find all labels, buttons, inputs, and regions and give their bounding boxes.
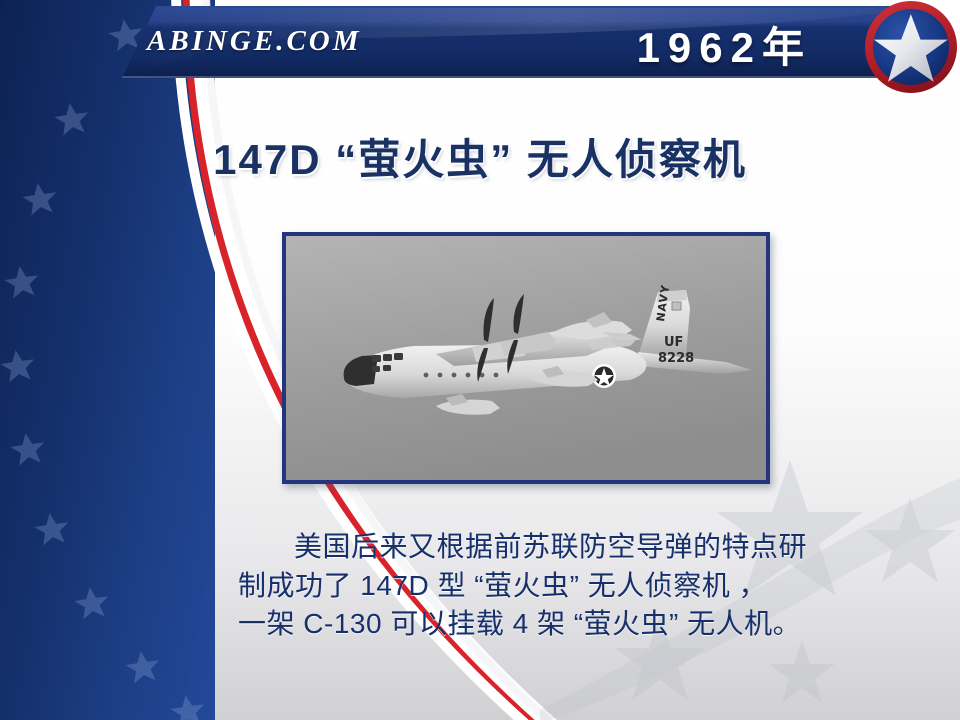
svg-text:UF: UF	[664, 335, 683, 350]
body-text: 美国后来又根据前苏联防空导弹的特点研 制成功了 147D 型 “萤火虫” 无人侦…	[238, 528, 898, 644]
svg-text:8228: 8228	[658, 351, 694, 366]
aircraft-photo-image: NAVY UF 8228	[286, 236, 766, 480]
aircraft-photo: NAVY UF 8228	[282, 232, 770, 484]
slide-root: ABINGE.COM 1962年 147D “萤火虫” 无	[0, 0, 960, 720]
body-line-3: 一架 C-130 可以挂载 4 架 “萤火虫” 无人机。	[238, 605, 898, 644]
header-banner: ABINGE.COM 1962年	[122, 6, 912, 78]
year-label: 1962年	[637, 14, 812, 75]
site-logo-text: ABINGE.COM	[147, 25, 362, 58]
star-emblem-icon	[862, 0, 960, 96]
page-title: 147D “萤火虫” 无人侦察机	[0, 126, 960, 187]
body-line-2: 制成功了 147D 型 “萤火虫” 无人侦察机 ，	[238, 567, 898, 606]
body-line-1: 美国后来又根据前苏联防空导弹的特点研	[238, 528, 898, 567]
